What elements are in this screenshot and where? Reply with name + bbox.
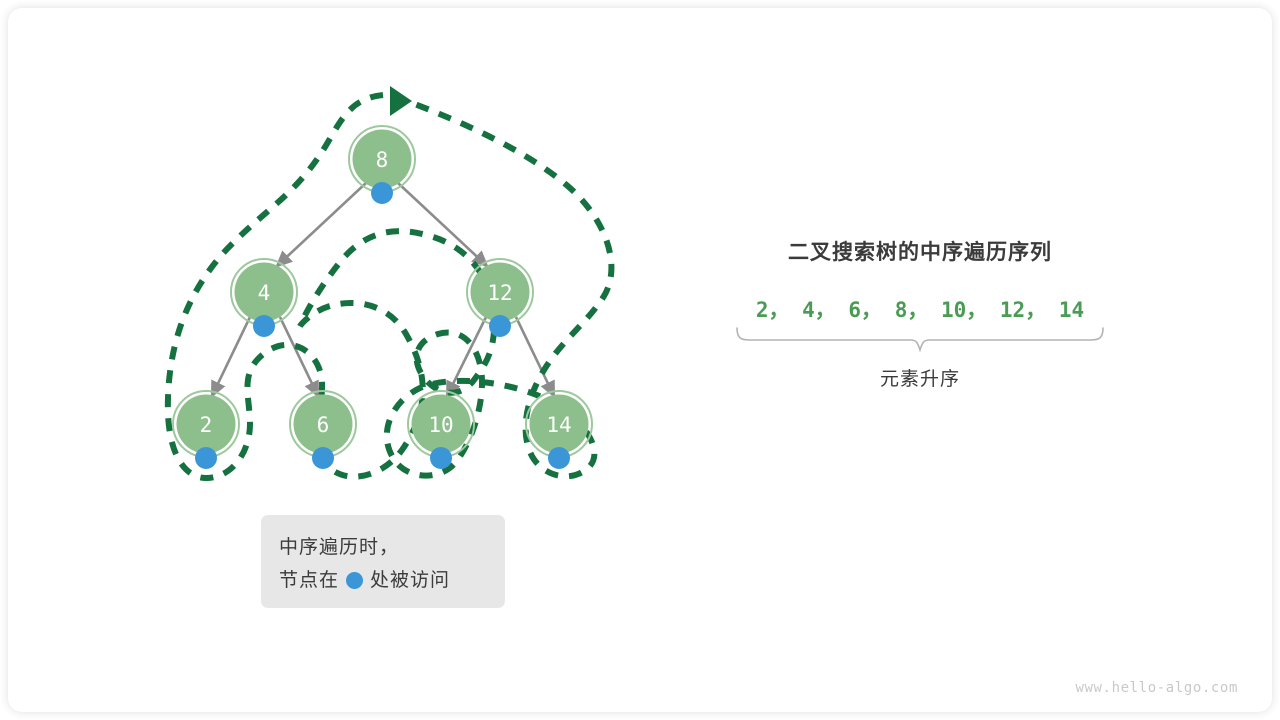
edge-8-12: [398, 183, 487, 266]
visit-dot-4: [253, 315, 275, 337]
underbrace-icon: [735, 326, 1105, 356]
tree-node-4-label: 4: [258, 281, 271, 305]
inorder-sequence-panel: 二叉搜索树的中序遍历序列 2， 4， 6， 8， 10， 12， 14 元素升序: [700, 236, 1140, 391]
visit-dot-icon: [346, 572, 363, 589]
visit-dot-12: [489, 315, 511, 337]
visit-dot-6: [312, 447, 334, 469]
visit-dot-8: [371, 182, 393, 204]
edge-4-2: [212, 317, 250, 396]
visit-dot-14: [548, 447, 570, 469]
visit-dot-10: [430, 447, 452, 469]
edge-8-4: [277, 183, 366, 266]
legend-line-2-prefix: 节点在: [279, 564, 339, 597]
underbrace: [700, 326, 1140, 360]
legend-line-2-suffix: 处被访问: [370, 564, 450, 597]
tree-node-12-label: 12: [487, 281, 512, 305]
watermark: www.hello-algo.com: [1075, 680, 1238, 696]
panel-caption: 元素升序: [700, 364, 1140, 391]
tree-node-2-label: 2: [200, 413, 213, 437]
legend-line-2: 节点在 处被访问: [279, 564, 505, 597]
edge-4-6: [280, 317, 318, 396]
tree-node-10-label: 10: [428, 413, 453, 437]
legend-line-1: 中序遍历时，: [279, 531, 505, 564]
panel-title: 二叉搜索树的中序遍历序列: [700, 236, 1140, 266]
tree-node-6-label: 6: [317, 413, 330, 437]
legend-box: 中序遍历时， 节点在 处被访问: [261, 515, 505, 608]
tree-node-14-label: 14: [546, 413, 571, 437]
legend-line-1-text: 中序遍历时，: [279, 531, 399, 564]
inorder-sequence-values: 2， 4， 6， 8， 10， 12， 14: [700, 294, 1140, 324]
traversal-start-marker: [390, 86, 412, 116]
tree-node-8-label: 8: [376, 148, 389, 172]
screenshot-root: 8 4 12 2 6: [0, 0, 1280, 720]
visit-dot-2: [195, 447, 217, 469]
